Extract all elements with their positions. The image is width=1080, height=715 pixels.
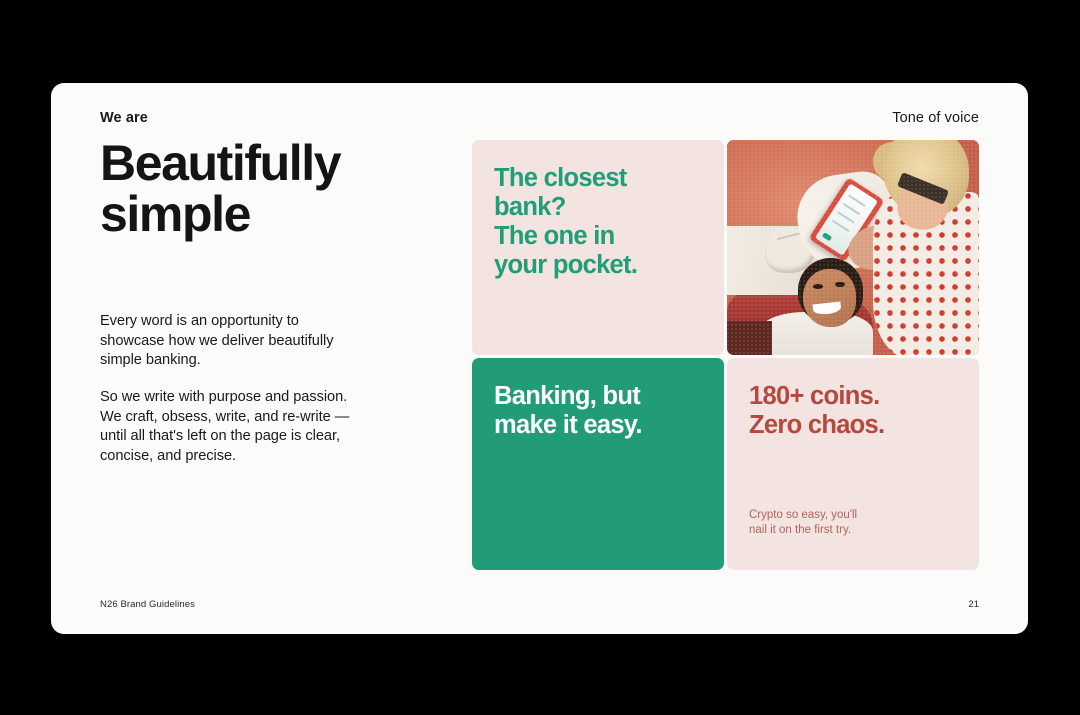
eyebrow-label: We are xyxy=(100,110,148,126)
left-column: Beautifully simple Every word is an oppo… xyxy=(100,138,430,467)
screen: We are Tone of voice Beautifully simple … xyxy=(0,0,1080,715)
photo-smiling-face xyxy=(803,269,856,327)
photo-phone-ui-line xyxy=(832,219,850,232)
body-paragraph-2: So we write with purpose and passion. We… xyxy=(100,388,352,467)
page-title: Beautifully simple xyxy=(100,138,430,240)
section-label: Tone of voice xyxy=(892,110,979,126)
photo-eye-left xyxy=(813,284,823,289)
card-closest-bank-body: The closest bank? The one in your pocket… xyxy=(494,164,706,280)
card-grid: The closest bank? The one in your pocket… xyxy=(472,140,979,570)
card-coins-body: 180+ coins. Zero chaos. xyxy=(749,382,961,440)
photo-phone-ui-line xyxy=(848,194,866,207)
body-copy: Every word is an opportunity to showcase… xyxy=(100,312,352,467)
body-paragraph-1: Every word is an opportunity to showcase… xyxy=(100,312,352,371)
slide-header: We are Tone of voice xyxy=(100,110,979,126)
card-photo xyxy=(727,140,979,355)
photo-phone-ui-accent xyxy=(822,232,833,241)
card-coins-caption: Crypto so easy, you'll nail it on the fi… xyxy=(749,508,959,538)
photo-phone-ui-line xyxy=(843,203,861,216)
slide-footer: N26 Brand Guidelines 21 xyxy=(100,599,979,610)
photo-eye-right xyxy=(835,282,845,287)
card-banking-easy-body: Banking, but make it easy. xyxy=(494,382,706,440)
card-banking-easy-text: Banking, but make it easy. xyxy=(494,382,706,440)
page-number: 21 xyxy=(968,599,979,610)
card-coins: 180+ coins. Zero chaos. Crypto so easy, … xyxy=(727,358,979,570)
card-banking-easy: Banking, but make it easy. xyxy=(472,358,724,570)
card-closest-bank: The closest bank? The one in your pocket… xyxy=(472,140,724,355)
photo-phone-ui-line xyxy=(837,211,855,224)
card-closest-bank-text: The closest bank? The one in your pocket… xyxy=(494,164,706,280)
footer-brand-label: N26 Brand Guidelines xyxy=(100,599,195,610)
card-coins-headline: 180+ coins. Zero chaos. xyxy=(749,382,961,440)
slide-page: We are Tone of voice Beautifully simple … xyxy=(51,83,1028,634)
photo-corner-shadow xyxy=(727,321,772,355)
